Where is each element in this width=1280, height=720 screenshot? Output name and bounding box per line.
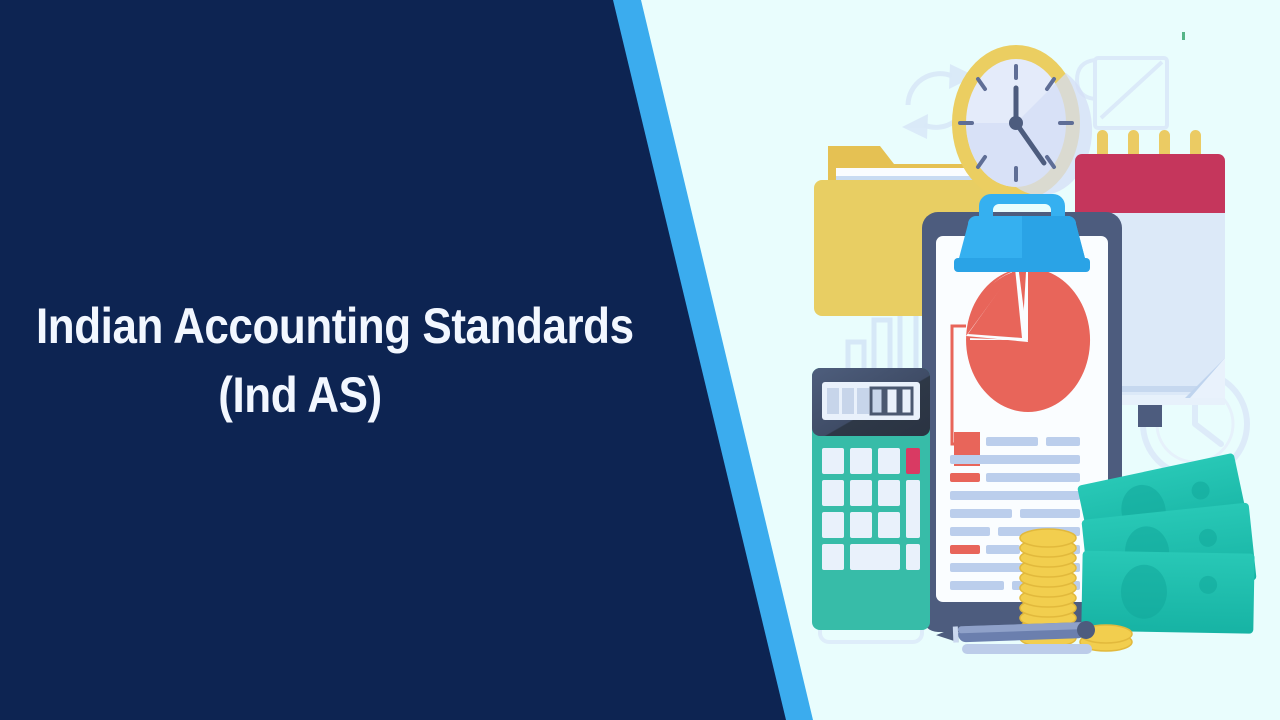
calculator-key-accent <box>906 448 920 474</box>
wall-clock-icon <box>952 45 1092 201</box>
calculator-icon <box>812 368 930 630</box>
page-title: Indian Accounting Standards (Ind AS) <box>0 292 600 430</box>
page-title-line-2: (Ind AS) <box>36 361 564 430</box>
decorative-speck <box>1182 32 1185 40</box>
banner-root: Indian Accounting Standards (Ind AS) <box>0 0 1280 720</box>
accounting-illustration <box>790 0 1280 720</box>
page-title-line-1: Indian Accounting Standards <box>36 292 564 361</box>
